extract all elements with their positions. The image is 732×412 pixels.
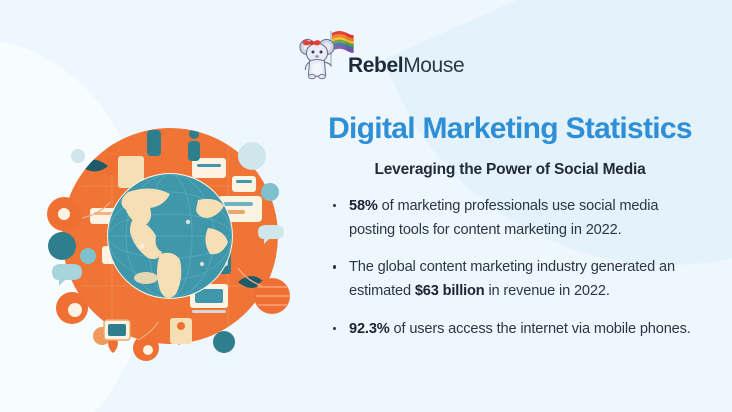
- infographic-canvas: RebelMouse: [0, 0, 732, 412]
- list-item: The global content marketing industry ge…: [325, 256, 695, 303]
- global-social-media-globe-illustration: [42, 96, 302, 366]
- page-subtitle: Leveraging the Power of Social Media: [325, 161, 695, 179]
- stat-text-2-post: in revenue in 2022.: [485, 283, 610, 299]
- content-column: Digital Marketing Statistics Leveraging …: [325, 112, 695, 355]
- page-title: Digital Marketing Statistics: [325, 112, 695, 145]
- stat-value-1: 58%: [349, 198, 378, 214]
- stat-value-2: $63 billion: [415, 283, 485, 299]
- stat-text-1: of marketing professionals use social me…: [349, 198, 658, 238]
- stat-value-3: 92.3%: [349, 321, 390, 337]
- logo-word-mouse: Mouse: [403, 54, 464, 77]
- rebelmouse-wordmark: RebelMouse: [348, 54, 464, 78]
- rebelmouse-logo[interactable]: RebelMouse: [297, 27, 437, 89]
- list-item: 92.3% of users access the internet via m…: [325, 318, 695, 342]
- logo-word-rebel: Rebel: [348, 54, 403, 77]
- statistics-list: 58% of marketing professionals use socia…: [325, 195, 695, 341]
- list-item: 58% of marketing professionals use socia…: [325, 195, 695, 242]
- stat-text-3: of users access the internet via mobile …: [390, 321, 691, 337]
